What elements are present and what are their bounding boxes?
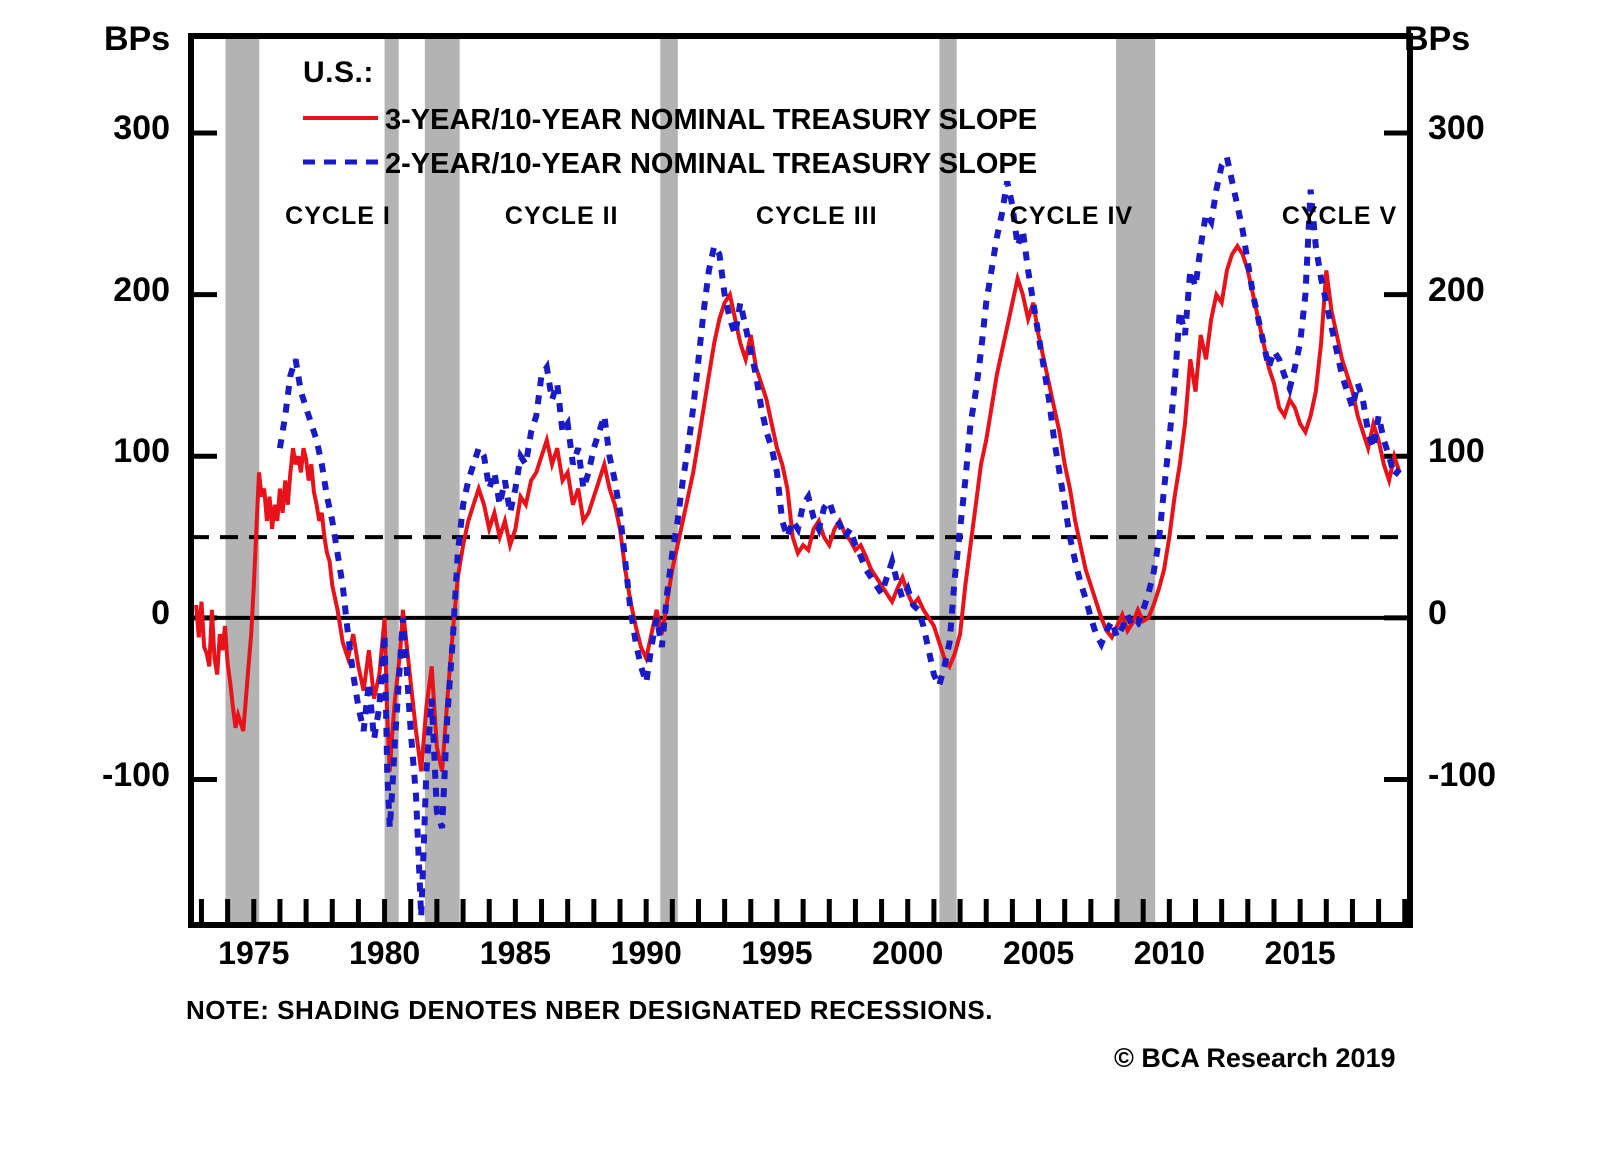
y-tick-label-left: 100 (60, 432, 170, 471)
x-tick-label: 1975 (194, 935, 314, 972)
cycle-label: CYCLE III (756, 202, 878, 231)
y-tick-label-right: 100 (1428, 432, 1548, 471)
y-tick-label-right: 300 (1428, 109, 1548, 148)
chart-root: BPs BPs U.S.: 3-YEAR/10-YEAR NOMINAL TRE… (0, 0, 1600, 1152)
x-tick-label: 2005 (979, 935, 1099, 972)
legend-label-2y10y: 2-YEAR/10-YEAR NOMINAL TREASURY SLOPE (385, 148, 1037, 181)
x-tick-label: 2015 (1240, 935, 1360, 972)
y-tick-label-left: 300 (60, 109, 170, 148)
x-tick-label: 1980 (325, 935, 445, 972)
cycle-label: CYCLE I (285, 202, 391, 231)
x-tick-label: 1990 (586, 935, 706, 972)
cycle-label: CYCLE V (1282, 202, 1397, 231)
cycle-label: CYCLE II (505, 202, 619, 231)
legend-label-3y10y: 3-YEAR/10-YEAR NOMINAL TREASURY SLOPE (385, 104, 1037, 137)
x-tick-label: 2000 (848, 935, 968, 972)
y-tick-label-left: 0 (60, 594, 170, 633)
y-tick-label-right: 200 (1428, 271, 1548, 310)
x-tick-label: 1985 (455, 935, 575, 972)
cycle-label: CYCLE IV (1010, 202, 1133, 231)
chart-note: NOTE: SHADING DENOTES NBER DESIGNATED RE… (186, 995, 993, 1026)
y-tick-label-left: -100 (60, 756, 170, 795)
y-tick-label-right: -100 (1428, 756, 1548, 795)
y-tick-label-left: 200 (60, 271, 170, 310)
y-tick-label-right: 0 (1428, 594, 1548, 633)
x-tick-label: 1995 (717, 935, 837, 972)
copyright-label: © BCA Research 2019 (1114, 1043, 1396, 1074)
x-tick-label: 2010 (1109, 935, 1229, 972)
